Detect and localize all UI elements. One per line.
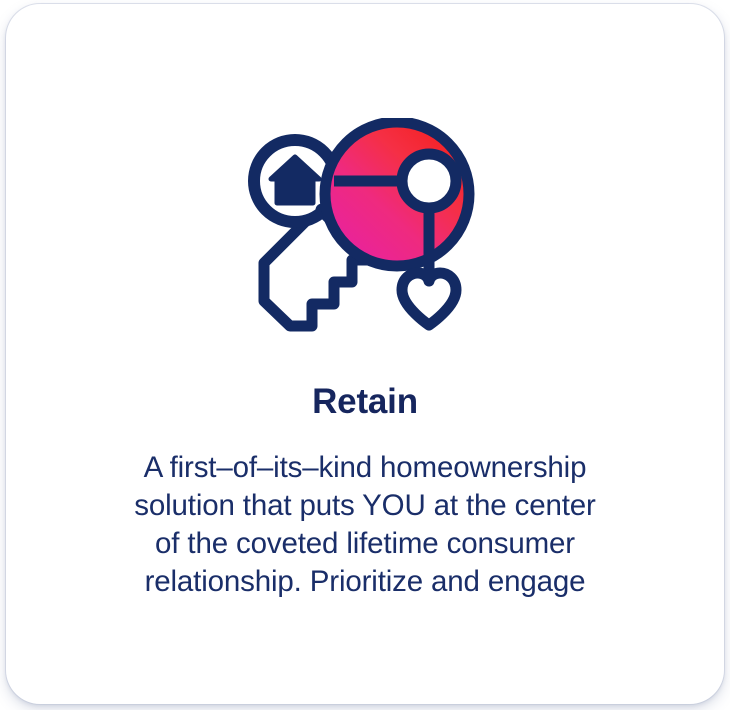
card-title: Retain [312, 384, 418, 419]
house-key-retain-icon [242, 118, 488, 338]
white-circle-node [402, 154, 456, 208]
card-description-line-4: relationship. Prioritize and engage [85, 563, 645, 601]
gradient-circle-keyhead [325, 122, 469, 283]
feature-card: Retain A first–of–its–kind homeownership… [6, 4, 724, 704]
card-description-line-2: solution that puts YOU at the center [85, 487, 645, 525]
heart-outline-icon [402, 273, 456, 325]
card-description: A first–of–its–kind homeownership soluti… [85, 449, 645, 601]
card-description-line-1: A first–of–its–kind homeownership [85, 449, 645, 487]
card-description-line-3: of the coveted lifetime consumer [85, 525, 645, 563]
